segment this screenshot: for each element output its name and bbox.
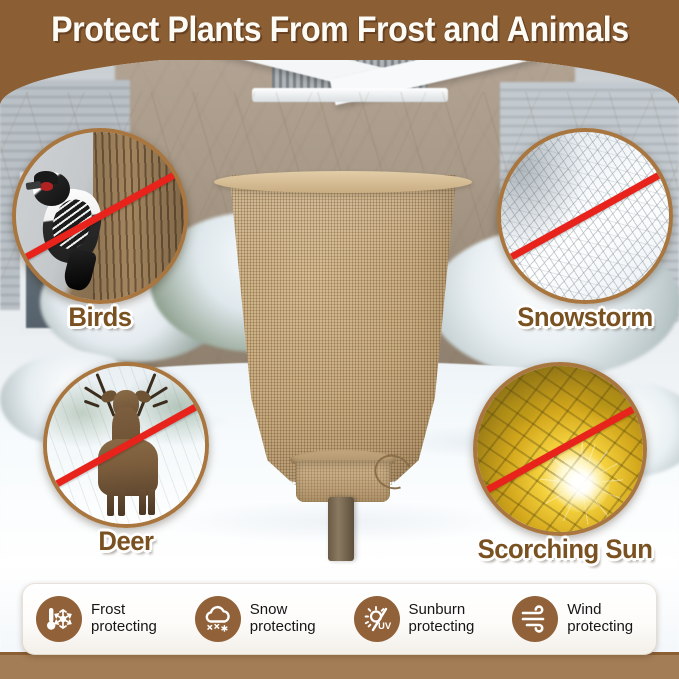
callout-birds-image — [12, 128, 188, 304]
feature-snow: Snow protecting — [181, 596, 340, 642]
burlap-top-rim — [214, 171, 472, 193]
deer-leg — [139, 489, 146, 514]
wind-lines-icon — [512, 596, 558, 642]
deer-leg — [148, 489, 155, 514]
callout-deer-label: Deer — [47, 526, 205, 557]
tree-trunk — [328, 497, 354, 561]
svg-text:UV: UV — [378, 621, 392, 632]
burlap-plant-cover — [198, 125, 488, 525]
feature-wind-label: Wind protecting — [567, 602, 633, 636]
feature-frost-line1: Frost — [91, 601, 125, 618]
callout-deer: Deer — [43, 362, 209, 557]
feature-sunburn-line2: protecting — [409, 619, 475, 636]
callout-deer-image — [43, 362, 209, 528]
callout-snowstorm-image — [497, 128, 673, 304]
sun-uv-blocked-icon: UV — [354, 596, 400, 642]
burlap-bag-body — [208, 175, 478, 485]
callout-birds: Birds — [12, 128, 188, 333]
feature-sunburn: UV Sunburn protecting — [340, 596, 499, 642]
feature-wind-line1: Wind — [567, 601, 601, 618]
thermometer-snowflake-icon — [36, 596, 82, 642]
feature-snow-line1: Snow — [250, 601, 288, 618]
header-banner: Protect Plants From Frost and Animals — [0, 0, 679, 60]
callout-scorching-sun-label: Scorching Sun — [478, 534, 653, 565]
sun-flare — [553, 456, 609, 512]
feature-snow-label: Snow protecting — [250, 602, 316, 636]
cloud-snow-icon — [195, 596, 241, 642]
product-poster: Protect Plants From Frost and Animals — [0, 0, 679, 679]
feature-snow-line2: protecting — [250, 619, 316, 636]
callout-snowstorm-label: Snowstorm — [501, 302, 668, 333]
callout-scorching-sun-image — [473, 362, 647, 536]
feature-frost-line2: protecting — [91, 619, 157, 636]
feature-frost-label: Frost protecting — [91, 602, 157, 636]
callout-scorching-sun: Scorching Sun — [473, 362, 657, 565]
page-title: Protect Plants From Frost and Animals — [51, 10, 629, 50]
feature-frost: Frost protecting — [22, 596, 181, 642]
bottom-strip — [0, 655, 679, 679]
feature-sunburn-label: Sunburn protecting — [409, 602, 475, 636]
callout-snowstorm: Snowstorm — [497, 128, 673, 333]
deer-leg — [118, 489, 125, 516]
bird-red-nape — [40, 182, 53, 190]
callout-birds-label: Birds — [16, 302, 183, 333]
feature-bar: Frost protecting Snow — [22, 583, 657, 655]
feature-wind: Wind protecting — [498, 596, 657, 642]
feature-wind-line2: protecting — [567, 619, 633, 636]
feature-sunburn-line1: Sunburn — [409, 601, 466, 618]
deer-leg — [107, 489, 114, 516]
